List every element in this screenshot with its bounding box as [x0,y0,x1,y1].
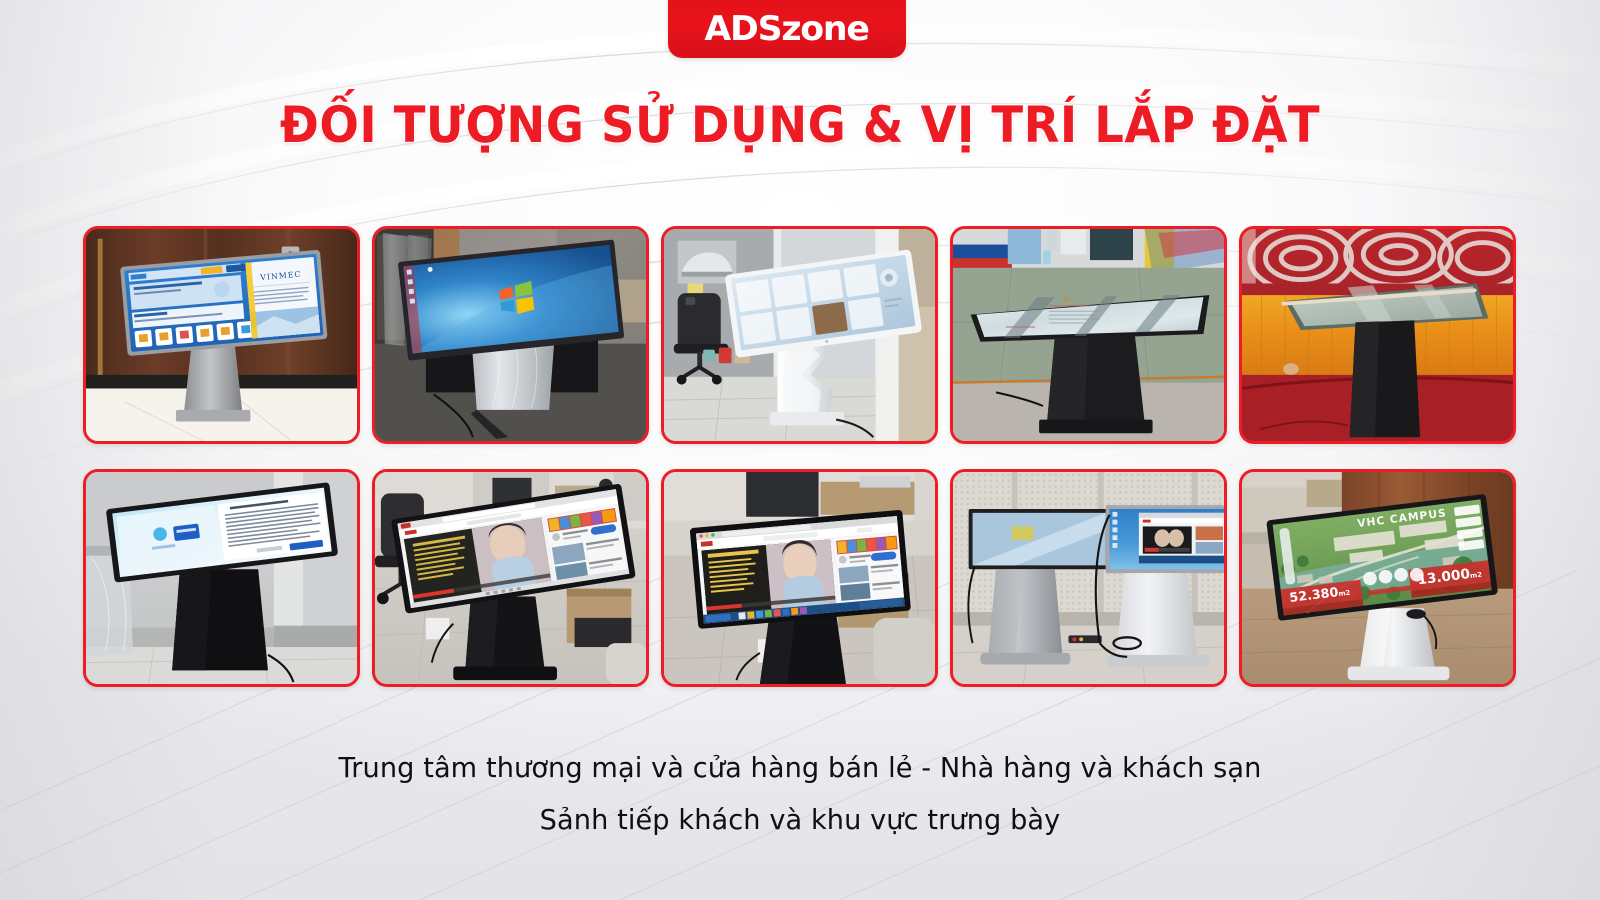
gallery-photo[interactable] [1239,226,1516,444]
photo-scene-white-z-kiosk [664,229,935,441]
page-title: ĐỐI TƯỢNG SỬ DỤNG & VỊ TRÍ LẮP ĐẶT [56,96,1544,154]
gallery-photo[interactable]: VINMEC [83,226,360,444]
gallery-photo[interactable] [950,469,1227,687]
photo-scene-video-kiosk-close [664,472,935,684]
photo-scene-twin-silver-kiosks [953,472,1224,684]
brand-logo-banner: ADSzone [668,0,906,58]
gallery-photo[interactable] [372,469,649,687]
gallery-photo[interactable] [372,226,649,444]
gallery-photo[interactable] [950,226,1227,444]
photo-scene-campus-map-kiosk: VHC CAMPUS 52 [1242,472,1513,684]
slide-root: ADSzone ĐỐI TƯỢNG SỬ DỤNG & VỊ TRÍ LẮP Đ… [0,0,1600,900]
photo-scene-document-kiosk [86,472,357,684]
gallery-photo[interactable] [661,226,938,444]
footer-caption-line-1: Trung tâm thương mại và cửa hàng bán lẻ … [24,742,1576,794]
gallery-photo[interactable] [661,469,938,687]
photo-gallery: VINMEC [83,226,1517,712]
footer-captions: Trung tâm thương mại và cửa hàng bán lẻ … [0,742,1600,846]
gallery-row-1: VINMEC [83,226,1517,444]
photo-scene-stage-kiosk [1242,229,1513,441]
footer-caption-line-2: Sảnh tiếp khách và khu vực trưng bày [24,794,1576,846]
photo-scene-black-kiosk-venue [953,229,1224,441]
photo-scene-video-kiosk-wide [375,472,646,684]
gallery-photo[interactable] [83,469,360,687]
photo-scene-vinmec-kiosk: VINMEC [86,229,357,441]
brand-wordmark: ADSzone [705,12,869,46]
gallery-photo[interactable]: VHC CAMPUS 52 [1239,469,1516,687]
gallery-row-2: VHC CAMPUS 52 [83,469,1517,687]
photo-scene-windows7-kiosk [375,229,646,441]
